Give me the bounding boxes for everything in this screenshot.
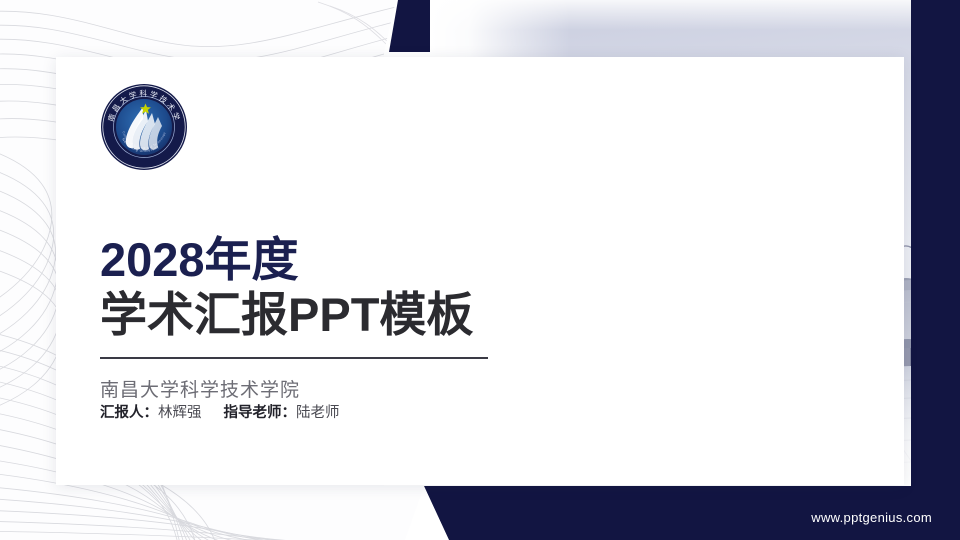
advisor-name: 陆老师 xyxy=(296,405,340,421)
subtitle-institution: 南昌大学科学技术学院 xyxy=(100,375,530,402)
title-divider xyxy=(100,357,488,359)
site-url[interactable]: www.pptgenius.com xyxy=(811,510,932,525)
title-text-block: 2028年度 学术汇报PPT模板 南昌大学科学技术学院 xyxy=(100,235,530,402)
title-card: 南昌大学科学技术学院 Nanchang University College o… xyxy=(56,57,904,485)
presentation-slide: 0% xyxy=(0,0,960,540)
university-logo: 南昌大学科学技术学院 Nanchang University College o… xyxy=(100,83,188,171)
title-main: 学术汇报PPT模板 xyxy=(100,289,530,342)
title-year: 2028年度 xyxy=(100,235,530,285)
advisor-label: 指导老师： xyxy=(224,405,297,421)
reporter-label: 汇报人： xyxy=(100,405,158,421)
reporter-name: 林辉强 xyxy=(158,405,202,421)
presenter-info: 汇报人：林辉强指导老师：陆老师 xyxy=(100,401,340,422)
